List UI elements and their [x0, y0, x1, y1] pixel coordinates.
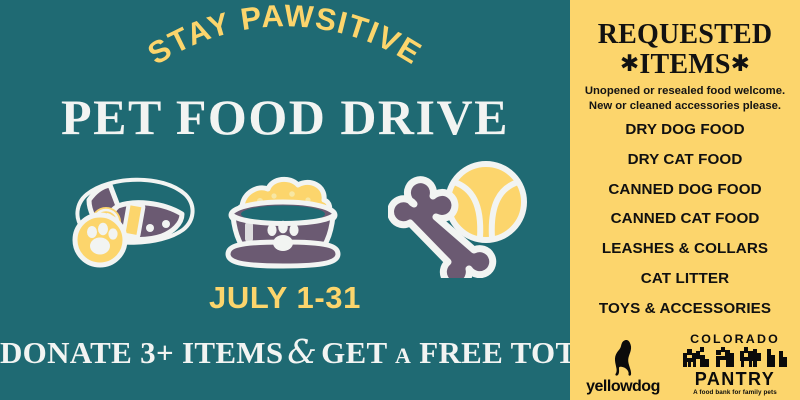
requested-items-list: DRY DOG FOOD DRY CAT FOOD CANNED DOG FOO… — [570, 122, 800, 331]
cta-after-small: A — [395, 343, 411, 368]
cpp-line-1: COLORADO — [680, 333, 790, 345]
arched-tagline: STAY PAWSITIVE — [0, 14, 570, 86]
cta-after-1: GET — [321, 335, 387, 370]
call-to-action: DONATE 3+ ITEMS&GET A FREE TOTE — [0, 335, 570, 368]
ampersand-glyph: & — [283, 332, 321, 371]
poster-title: PET FOOD DRIVE — [0, 92, 570, 142]
colorado-pet-pantry-logo: COLORADO — [680, 333, 790, 396]
pet-food-drive-poster: STAY PAWSITIVE PET FOOD DRIVE — [0, 0, 800, 400]
bone-and-ball-icon — [388, 158, 538, 278]
heading-line-1: REQUESTED — [598, 19, 773, 50]
list-item: DRY DOG FOOD — [570, 122, 800, 137]
list-item: CAT LITTER — [570, 271, 800, 286]
asterisk-right-icon: ✱ — [731, 51, 750, 77]
list-item: LEASHES & COLLARS — [570, 241, 800, 256]
svg-text:STAY PAWSITIVE: STAY PAWSITIVE — [142, 0, 429, 71]
heading-line-2-text: ITEMS — [639, 49, 730, 80]
subtitle-line-2: New or cleaned accessories please. — [576, 99, 794, 114]
drive-dates: JULY 1-31 — [0, 282, 570, 313]
illustration-row — [0, 158, 570, 278]
requested-items-subtitle: Unopened or resealed food welcome. New o… — [576, 84, 794, 114]
list-item: DRY CAT FOOD — [570, 152, 800, 167]
subtitle-line-1: Unopened or resealed food welcome. — [576, 84, 794, 99]
dog-collar-icon — [58, 162, 203, 274]
list-item: CANNED DOG FOOD — [570, 182, 800, 197]
right-panel: REQUESTED ✱ITEMS✱ Unopened or resealed f… — [570, 0, 800, 400]
cpp-line-2: PANTRY — [680, 370, 790, 388]
yellowdog-logo: yellowdog — [580, 337, 666, 396]
asterisk-left-icon: ✱ — [620, 51, 639, 77]
cpp-tagline: A food bank for family pets — [680, 389, 790, 396]
tagline-part-bold: PAWS — [238, 0, 340, 39]
pet-food-bowl-icon — [208, 158, 358, 276]
tagline-part-3: ITIVE — [334, 5, 428, 72]
cta-before: DONATE 3+ ITEMS — [0, 335, 283, 370]
sitting-dog-silhouette-icon — [603, 337, 643, 377]
yellowdog-wordmark: yellowdog — [580, 378, 666, 396]
sponsor-logos: yellowdog COLORADO — [570, 326, 800, 396]
list-item: CANNED CAT FOOD — [570, 211, 800, 226]
cpp-blocky-pet-mark-icon — [683, 347, 787, 369]
tagline-part-1: STAY — [142, 3, 244, 72]
list-item: TOYS & ACCESSORIES — [570, 301, 800, 316]
heading-line-2: ✱ITEMS✱ — [570, 50, 800, 80]
left-panel: STAY PAWSITIVE PET FOOD DRIVE — [0, 0, 570, 400]
requested-items-heading: REQUESTED ✱ITEMS✱ — [570, 20, 800, 79]
